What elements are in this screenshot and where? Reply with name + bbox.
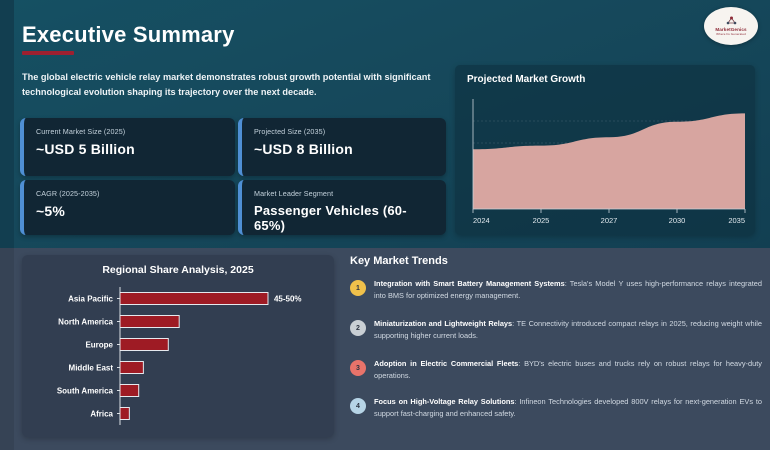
page-subtitle: The global electric vehicle relay market… bbox=[22, 70, 432, 100]
trend-number-badge: 2 bbox=[350, 320, 366, 336]
kpi-value: ~5% bbox=[36, 203, 223, 219]
trend-item: 3 Adoption in Electric Commercial Fleets… bbox=[350, 358, 762, 381]
network-nodes-icon bbox=[725, 16, 738, 27]
svg-text:Europe: Europe bbox=[85, 341, 113, 350]
key-market-trends-title: Key Market Trends bbox=[350, 255, 448, 267]
svg-text:2035: 2035 bbox=[728, 216, 745, 225]
svg-text:Africa: Africa bbox=[90, 410, 113, 419]
trend-text: Adoption in Electric Commercial Fleets: … bbox=[374, 358, 762, 381]
horizontal-bar-chart: Asia Pacific45-50%North AmericaEuropeMid… bbox=[22, 281, 334, 433]
trend-item: 4 Focus on High-Voltage Relay Solutions:… bbox=[350, 396, 762, 419]
trend-number-badge: 4 bbox=[350, 398, 366, 414]
kpi-label: Market Leader Segment bbox=[254, 189, 434, 198]
kpi-card-current-market-size: Current Market Size (2025) ~USD 5 Billio… bbox=[20, 118, 235, 176]
svg-text:2030: 2030 bbox=[669, 216, 686, 225]
kpi-value: ~USD 8 Billion bbox=[254, 141, 434, 157]
trend-number-badge: 3 bbox=[350, 360, 366, 376]
area-chart: 20242025202720302035 bbox=[455, 89, 755, 235]
svg-text:2024: 2024 bbox=[473, 216, 490, 225]
page-title: Executive Summary bbox=[22, 22, 235, 48]
svg-text:2025: 2025 bbox=[533, 216, 550, 225]
kpi-card-market-leader-segment: Market Leader Segment Passenger Vehicles… bbox=[238, 180, 446, 235]
svg-text:2027: 2027 bbox=[601, 216, 618, 225]
chart-title: Projected Market Growth bbox=[467, 74, 585, 85]
kpi-label: Current Market Size (2025) bbox=[36, 127, 223, 136]
projected-market-growth-chart-panel: Projected Market Growth 2024202520272030… bbox=[455, 65, 755, 235]
svg-text:Middle East: Middle East bbox=[69, 364, 114, 373]
svg-text:South America: South America bbox=[57, 387, 114, 396]
kpi-value: ~USD 5 Billion bbox=[36, 141, 223, 157]
kpi-label: Projected Size (2035) bbox=[254, 127, 434, 136]
kpi-value: Passenger Vehicles (60-65%) bbox=[254, 203, 434, 233]
kpi-card-projected-size: Projected Size (2035) ~USD 8 Billion bbox=[238, 118, 446, 176]
regional-share-chart-panel: Regional Share Analysis, 2025 Asia Pacif… bbox=[22, 255, 334, 437]
chart-title: Regional Share Analysis, 2025 bbox=[22, 264, 334, 276]
trend-item: 2 Miniaturization and Lightweight Relays… bbox=[350, 318, 762, 341]
logo-tagline: Where Its Generated bbox=[716, 32, 746, 36]
kpi-label: CAGR (2025-2035) bbox=[36, 189, 223, 198]
company-logo: MarketGenics Where Its Generated bbox=[704, 7, 758, 45]
trend-text: Integration with Smart Battery Managemen… bbox=[374, 278, 762, 301]
trend-number-badge: 1 bbox=[350, 280, 366, 296]
trend-item: 1 Integration with Smart Battery Managem… bbox=[350, 278, 762, 301]
trend-text: Focus on High-Voltage Relay Solutions: I… bbox=[374, 396, 762, 419]
svg-text:Asia Pacific: Asia Pacific bbox=[68, 295, 113, 304]
trend-text: Miniaturization and Lightweight Relays: … bbox=[374, 318, 762, 341]
svg-text:North America: North America bbox=[58, 318, 113, 327]
title-accent-underline bbox=[22, 51, 74, 55]
svg-text:45-50%: 45-50% bbox=[274, 295, 302, 304]
top-hero-section: Executive Summary The global electric ve… bbox=[0, 0, 770, 250]
kpi-card-cagr: CAGR (2025-2035) ~5% bbox=[20, 180, 235, 235]
